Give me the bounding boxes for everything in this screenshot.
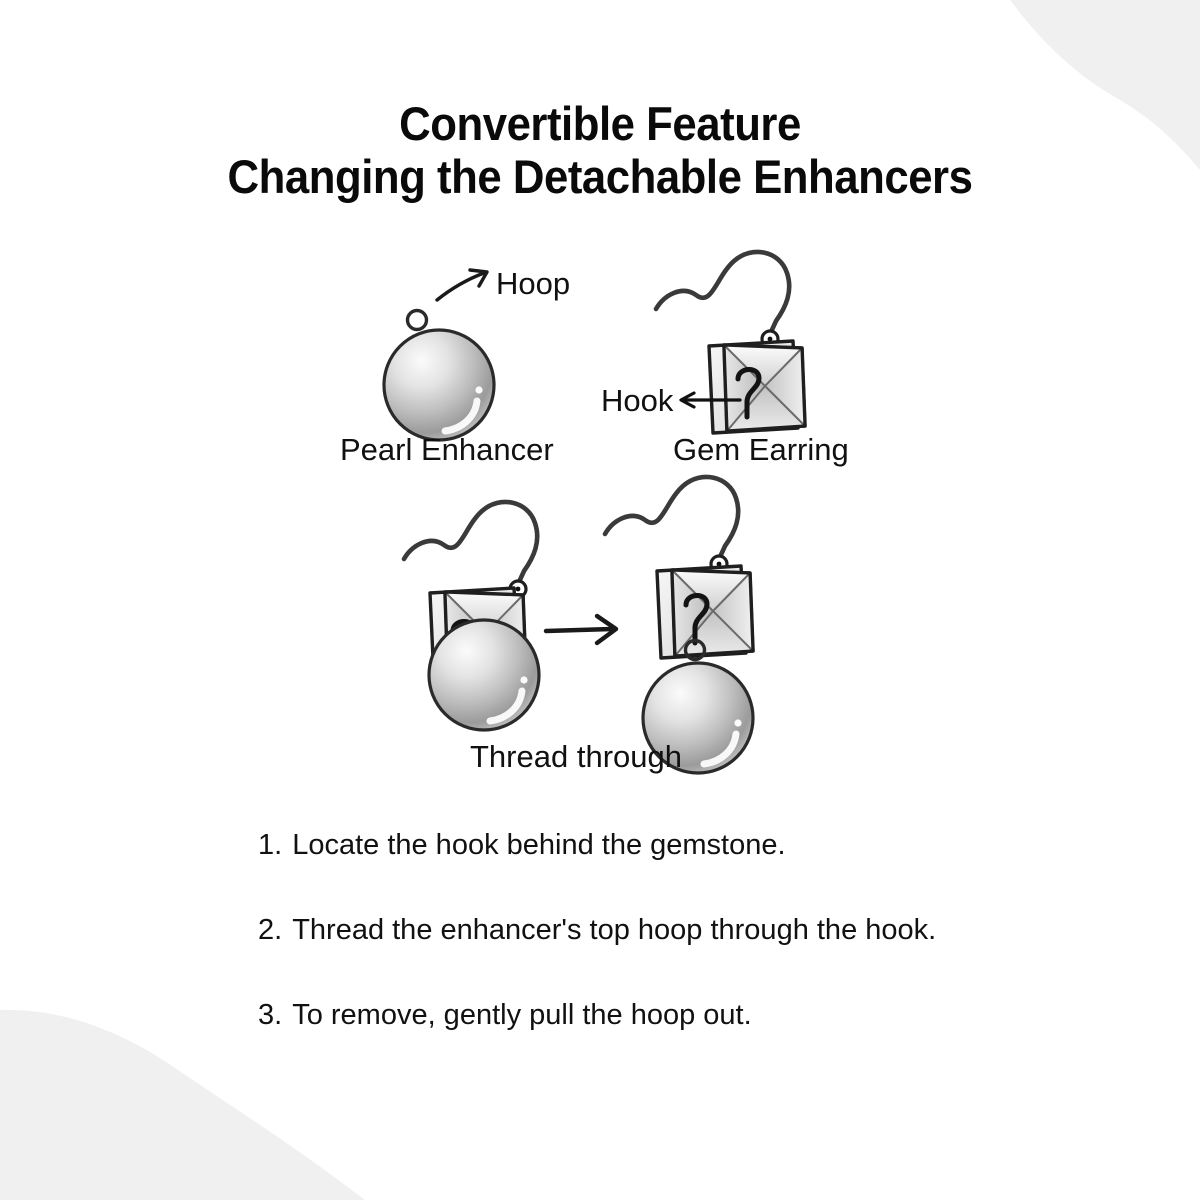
pearl-enhancer-label: Pearl Enhancer — [340, 432, 554, 467]
gem-earring-figure — [656, 252, 805, 433]
pearl-enhancer-figure — [384, 270, 494, 440]
before-pearl-sphere-icon — [429, 620, 539, 730]
infographic-page: Convertible Feature Changing the Detacha… — [0, 0, 1200, 1200]
instruction-number: 1. — [258, 828, 282, 863]
title-line-2: Changing the Detachable Enhancers — [42, 151, 1158, 204]
after-ear-wire-icon — [605, 477, 738, 572]
list-item: 2. Thread the enhancer's top hoop throug… — [258, 913, 1138, 948]
hoop-callout-label: Hoop — [496, 266, 570, 301]
instruction-number: 2. — [258, 913, 282, 948]
after-state-figure — [605, 477, 753, 773]
before-ear-wire-icon — [404, 502, 537, 597]
gem-earring-label: Gem Earring — [673, 432, 849, 467]
gem-ear-wire-icon — [656, 252, 789, 347]
before-state-figure — [404, 502, 539, 730]
transition-arrow-icon — [546, 616, 616, 643]
pearl-sphere-icon — [384, 330, 494, 440]
instruction-list: 1. Locate the hook behind the gemstone. … — [258, 828, 1138, 1082]
thread-through-label: Thread through — [470, 739, 682, 774]
instruction-number: 3. — [258, 998, 282, 1033]
instruction-text: To remove, gently pull the hoop out. — [292, 998, 751, 1033]
instruction-diagram: Hoop Pearl Enhancer Hook — [0, 245, 1200, 790]
instruction-text: Locate the hook behind the gemstone. — [292, 828, 785, 863]
pearl-hoop-ring-icon — [408, 311, 427, 330]
instruction-text: Thread the enhancer's top hoop through t… — [292, 913, 936, 948]
list-item: 3. To remove, gently pull the hoop out. — [258, 998, 1138, 1033]
list-item: 1. Locate the hook behind the gemstone. — [258, 828, 1138, 863]
page-title: Convertible Feature Changing the Detacha… — [0, 98, 1200, 203]
title-line-1: Convertible Feature — [42, 98, 1158, 151]
hook-callout-label: Hook — [601, 383, 674, 418]
hoop-callout-arrow-icon — [437, 270, 487, 300]
